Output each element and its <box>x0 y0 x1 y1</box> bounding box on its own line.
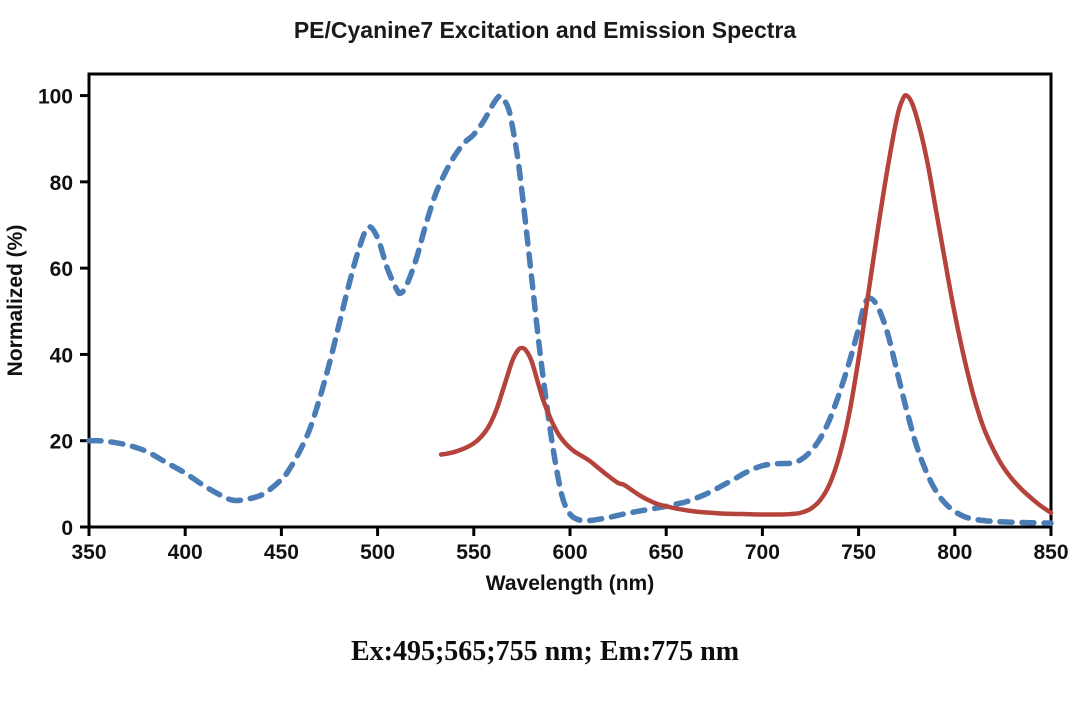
data-series-group <box>89 95 1051 523</box>
x-tick-label: 550 <box>456 541 491 564</box>
x-tick-label: 600 <box>552 541 587 564</box>
x-axis-title: Wavelength (nm) <box>486 572 654 595</box>
y-tick-label: 80 <box>50 172 73 195</box>
x-tick-label: 400 <box>168 541 203 564</box>
spectra-plot: 350400450500550600650700750800850 020406… <box>0 0 1090 703</box>
x-tick-label: 750 <box>841 541 876 564</box>
y-tick-label: 0 <box>61 517 73 540</box>
y-tick-label: 60 <box>50 258 73 281</box>
x-tick-label: 450 <box>264 541 299 564</box>
y-tick-label: 100 <box>38 86 73 109</box>
x-tick-label: 350 <box>71 541 106 564</box>
y-tick-label: 40 <box>50 344 73 367</box>
x-tick-label: 500 <box>360 541 395 564</box>
y-tick-label: 20 <box>50 431 73 454</box>
x-axis-tick-labels: 350400450500550600650700750800850 <box>71 541 1068 564</box>
figure-caption: Ex:495;565;755 nm; Em:775 nm <box>0 636 1090 668</box>
y-axis-tick-labels: 020406080100 <box>38 86 73 540</box>
plot-frame <box>89 74 1051 527</box>
x-tick-label: 850 <box>1033 541 1068 564</box>
x-tick-label: 700 <box>745 541 780 564</box>
x-tick-label: 800 <box>937 541 972 564</box>
x-tick-label: 650 <box>649 541 684 564</box>
y-axis-title: Normalized (%) <box>4 225 27 377</box>
series-excitation-curve <box>89 96 1051 523</box>
spectra-figure: PE/Cyanine7 Excitation and Emission Spec… <box>0 0 1090 703</box>
